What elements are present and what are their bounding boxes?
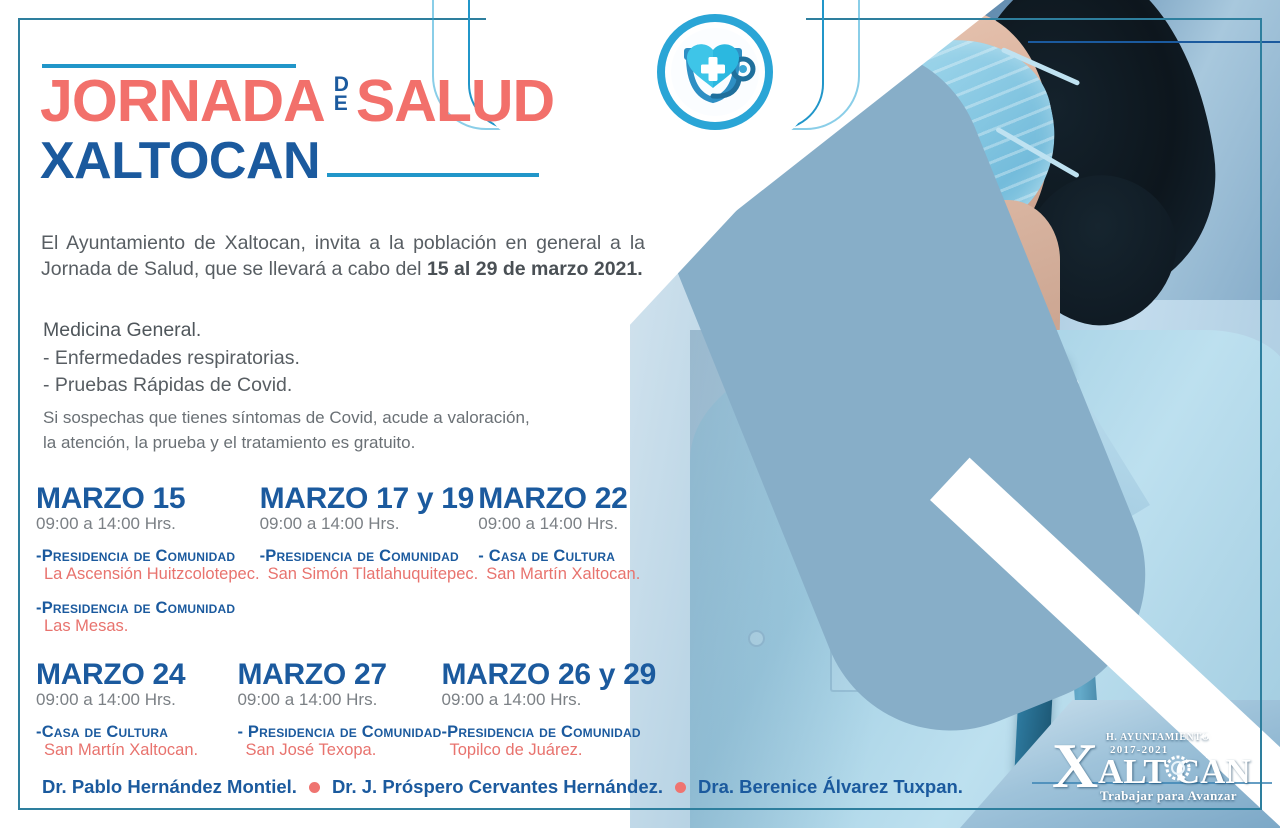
venue-place: Topilco de Juárez. bbox=[441, 741, 656, 760]
separator-dot-icon bbox=[309, 782, 320, 793]
intro-paragraph: El Ayuntamiento de Xaltocan, invita a la… bbox=[41, 231, 645, 283]
poster-title-line-2: XALTOCAN bbox=[40, 135, 320, 187]
schedule-date: MARZO 17 y 19 bbox=[260, 483, 479, 514]
venue-name: -Presidencia de Comunidad bbox=[260, 547, 479, 565]
schedule-time: 09:00 a 14:00 Hrs. bbox=[441, 691, 656, 710]
venue-place: San Simón Tlatlahuquitepec. bbox=[260, 565, 479, 584]
intro-dates-bold: 15 al 29 de marzo 2021. bbox=[427, 258, 643, 280]
logo-worker-figures-icon bbox=[1198, 730, 1252, 770]
schedule-date: MARZO 26 y 29 bbox=[441, 659, 656, 690]
municipal-logo: X H. AYUNTAMIENTO 2017-2021 ALT CAN Trab… bbox=[1048, 732, 1254, 806]
schedule-venue: -Presidencia de Comunidad La Ascensión H… bbox=[36, 547, 260, 585]
venue-place: La Ascensión Huitzcolotepec. bbox=[36, 565, 260, 584]
schedule-time: 09:00 a 14:00 Hrs. bbox=[36, 691, 237, 710]
venue-place: San Martín Xaltocan. bbox=[478, 565, 656, 584]
schedule-block-marzo-22: MARZO 22 09:00 a 14:00 Hrs. - Casa de Cu… bbox=[478, 483, 656, 637]
covid-notice-line-1: Si sospechas que tienes síntomas de Covi… bbox=[43, 406, 643, 431]
photo-accent-line-cyan bbox=[1260, 400, 1262, 720]
venue-name: -Presidencia de Comunidad bbox=[36, 599, 260, 617]
venue-name: -Casa de Cultura bbox=[36, 723, 237, 741]
health-campaign-poster: JORNADADESALUD XALTOCAN El Ayuntamiento … bbox=[0, 0, 1280, 828]
schedule-date: MARZO 15 bbox=[36, 483, 260, 514]
doctor-name: Dra. Berenice Álvarez Tuxpan. bbox=[698, 776, 963, 798]
venue-place: San José Texopa. bbox=[237, 741, 441, 760]
schedule-venue: -Presidencia de Comunidad Topilco de Juá… bbox=[441, 723, 656, 761]
separator-dot-icon bbox=[675, 782, 686, 793]
venue-name: -Presidencia de Comunidad bbox=[36, 547, 260, 565]
schedule-block-marzo-17-19: MARZO 17 y 19 09:00 a 14:00 Hrs. -Presid… bbox=[260, 483, 479, 637]
logo-wreath-emblem-icon bbox=[1165, 755, 1191, 781]
schedule-block-marzo-27: MARZO 27 09:00 a 14:00 Hrs. - Presidenci… bbox=[237, 659, 441, 761]
schedule-time: 09:00 a 14:00 Hrs. bbox=[260, 515, 479, 534]
schedule-venue: -Presidencia de Comunidad San Simón Tlat… bbox=[260, 547, 479, 585]
lab-coat-button bbox=[748, 630, 765, 647]
doctor-name: Dr. J. Próspero Cervantes Hernández. bbox=[332, 776, 663, 798]
covid-notice-line-2: la atención, la prueba y el tratamiento … bbox=[43, 431, 643, 456]
covid-notice: Si sospechas que tienes síntomas de Covi… bbox=[43, 406, 643, 456]
schedule-block-marzo-26-29: MARZO 26 y 29 09:00 a 14:00 Hrs. -Presid… bbox=[441, 659, 656, 761]
schedule-row: MARZO 15 09:00 a 14:00 Hrs. -Presidencia… bbox=[36, 483, 656, 637]
venue-place: San Martín Xaltocan. bbox=[36, 741, 237, 760]
service-item: - Enfermedades respiratorias. bbox=[43, 345, 513, 373]
schedule-row: MARZO 24 09:00 a 14:00 Hrs. -Casa de Cul… bbox=[36, 659, 656, 761]
schedule-venue: - Presidencia de Comunidad San José Texo… bbox=[237, 723, 441, 761]
venue-place: Las Mesas. bbox=[36, 617, 260, 636]
title-rule-middle bbox=[327, 173, 539, 177]
schedule-venue: -Casa de Cultura San Martín Xaltocan. bbox=[36, 723, 237, 761]
poster-title-line-1: JORNADADESALUD bbox=[40, 72, 554, 131]
schedule-time: 09:00 a 14:00 Hrs. bbox=[478, 515, 656, 534]
schedule-grid: MARZO 15 09:00 a 14:00 Hrs. -Presidencia… bbox=[36, 483, 656, 761]
venue-name: - Casa de Cultura bbox=[478, 547, 656, 565]
logo-slogan: Trabajar para Avanzar bbox=[1100, 788, 1237, 804]
venue-name: - Presidencia de Comunidad bbox=[237, 723, 441, 741]
schedule-block-marzo-24: MARZO 24 09:00 a 14:00 Hrs. -Casa de Cul… bbox=[36, 659, 237, 761]
schedule-venue: - Casa de Cultura San Martín Xaltocan. bbox=[478, 547, 656, 585]
schedule-date: MARZO 22 bbox=[478, 483, 656, 514]
title-word-jornada: JORNADA bbox=[40, 68, 325, 134]
schedule-time: 09:00 a 14:00 Hrs. bbox=[237, 691, 441, 710]
schedule-date: MARZO 27 bbox=[237, 659, 441, 690]
service-item: - Pruebas Rápidas de Covid. bbox=[43, 372, 513, 400]
schedule-time: 09:00 a 14:00 Hrs. bbox=[36, 515, 260, 534]
doctors-list: Dr. Pablo Hernández Montiel. Dr. J. Prós… bbox=[42, 776, 963, 798]
title-word-salud: SALUD bbox=[356, 68, 554, 134]
venue-name: -Presidencia de Comunidad bbox=[441, 723, 656, 741]
schedule-block-marzo-15: MARZO 15 09:00 a 14:00 Hrs. -Presidencia… bbox=[36, 483, 260, 637]
schedule-date: MARZO 24 bbox=[36, 659, 237, 690]
photo-frame-line-top bbox=[1028, 41, 1280, 43]
services-block: Medicina General. - Enfermedades respira… bbox=[43, 317, 513, 400]
logo-x-letter: X bbox=[1052, 734, 1098, 798]
title-de-e: E bbox=[334, 94, 349, 113]
logo-institution-text: H. AYUNTAMIENTO bbox=[1106, 732, 1210, 743]
title-word-de: DE bbox=[334, 75, 349, 114]
services-heading: Medicina General. bbox=[43, 317, 513, 345]
poster-content: JORNADADESALUD XALTOCAN El Ayuntamiento … bbox=[0, 0, 660, 828]
schedule-venue: -Presidencia de Comunidad Las Mesas. bbox=[36, 599, 260, 637]
doctor-name: Dr. Pablo Hernández Montiel. bbox=[42, 776, 297, 798]
heart-cross-stethoscope-icon bbox=[655, 12, 775, 132]
